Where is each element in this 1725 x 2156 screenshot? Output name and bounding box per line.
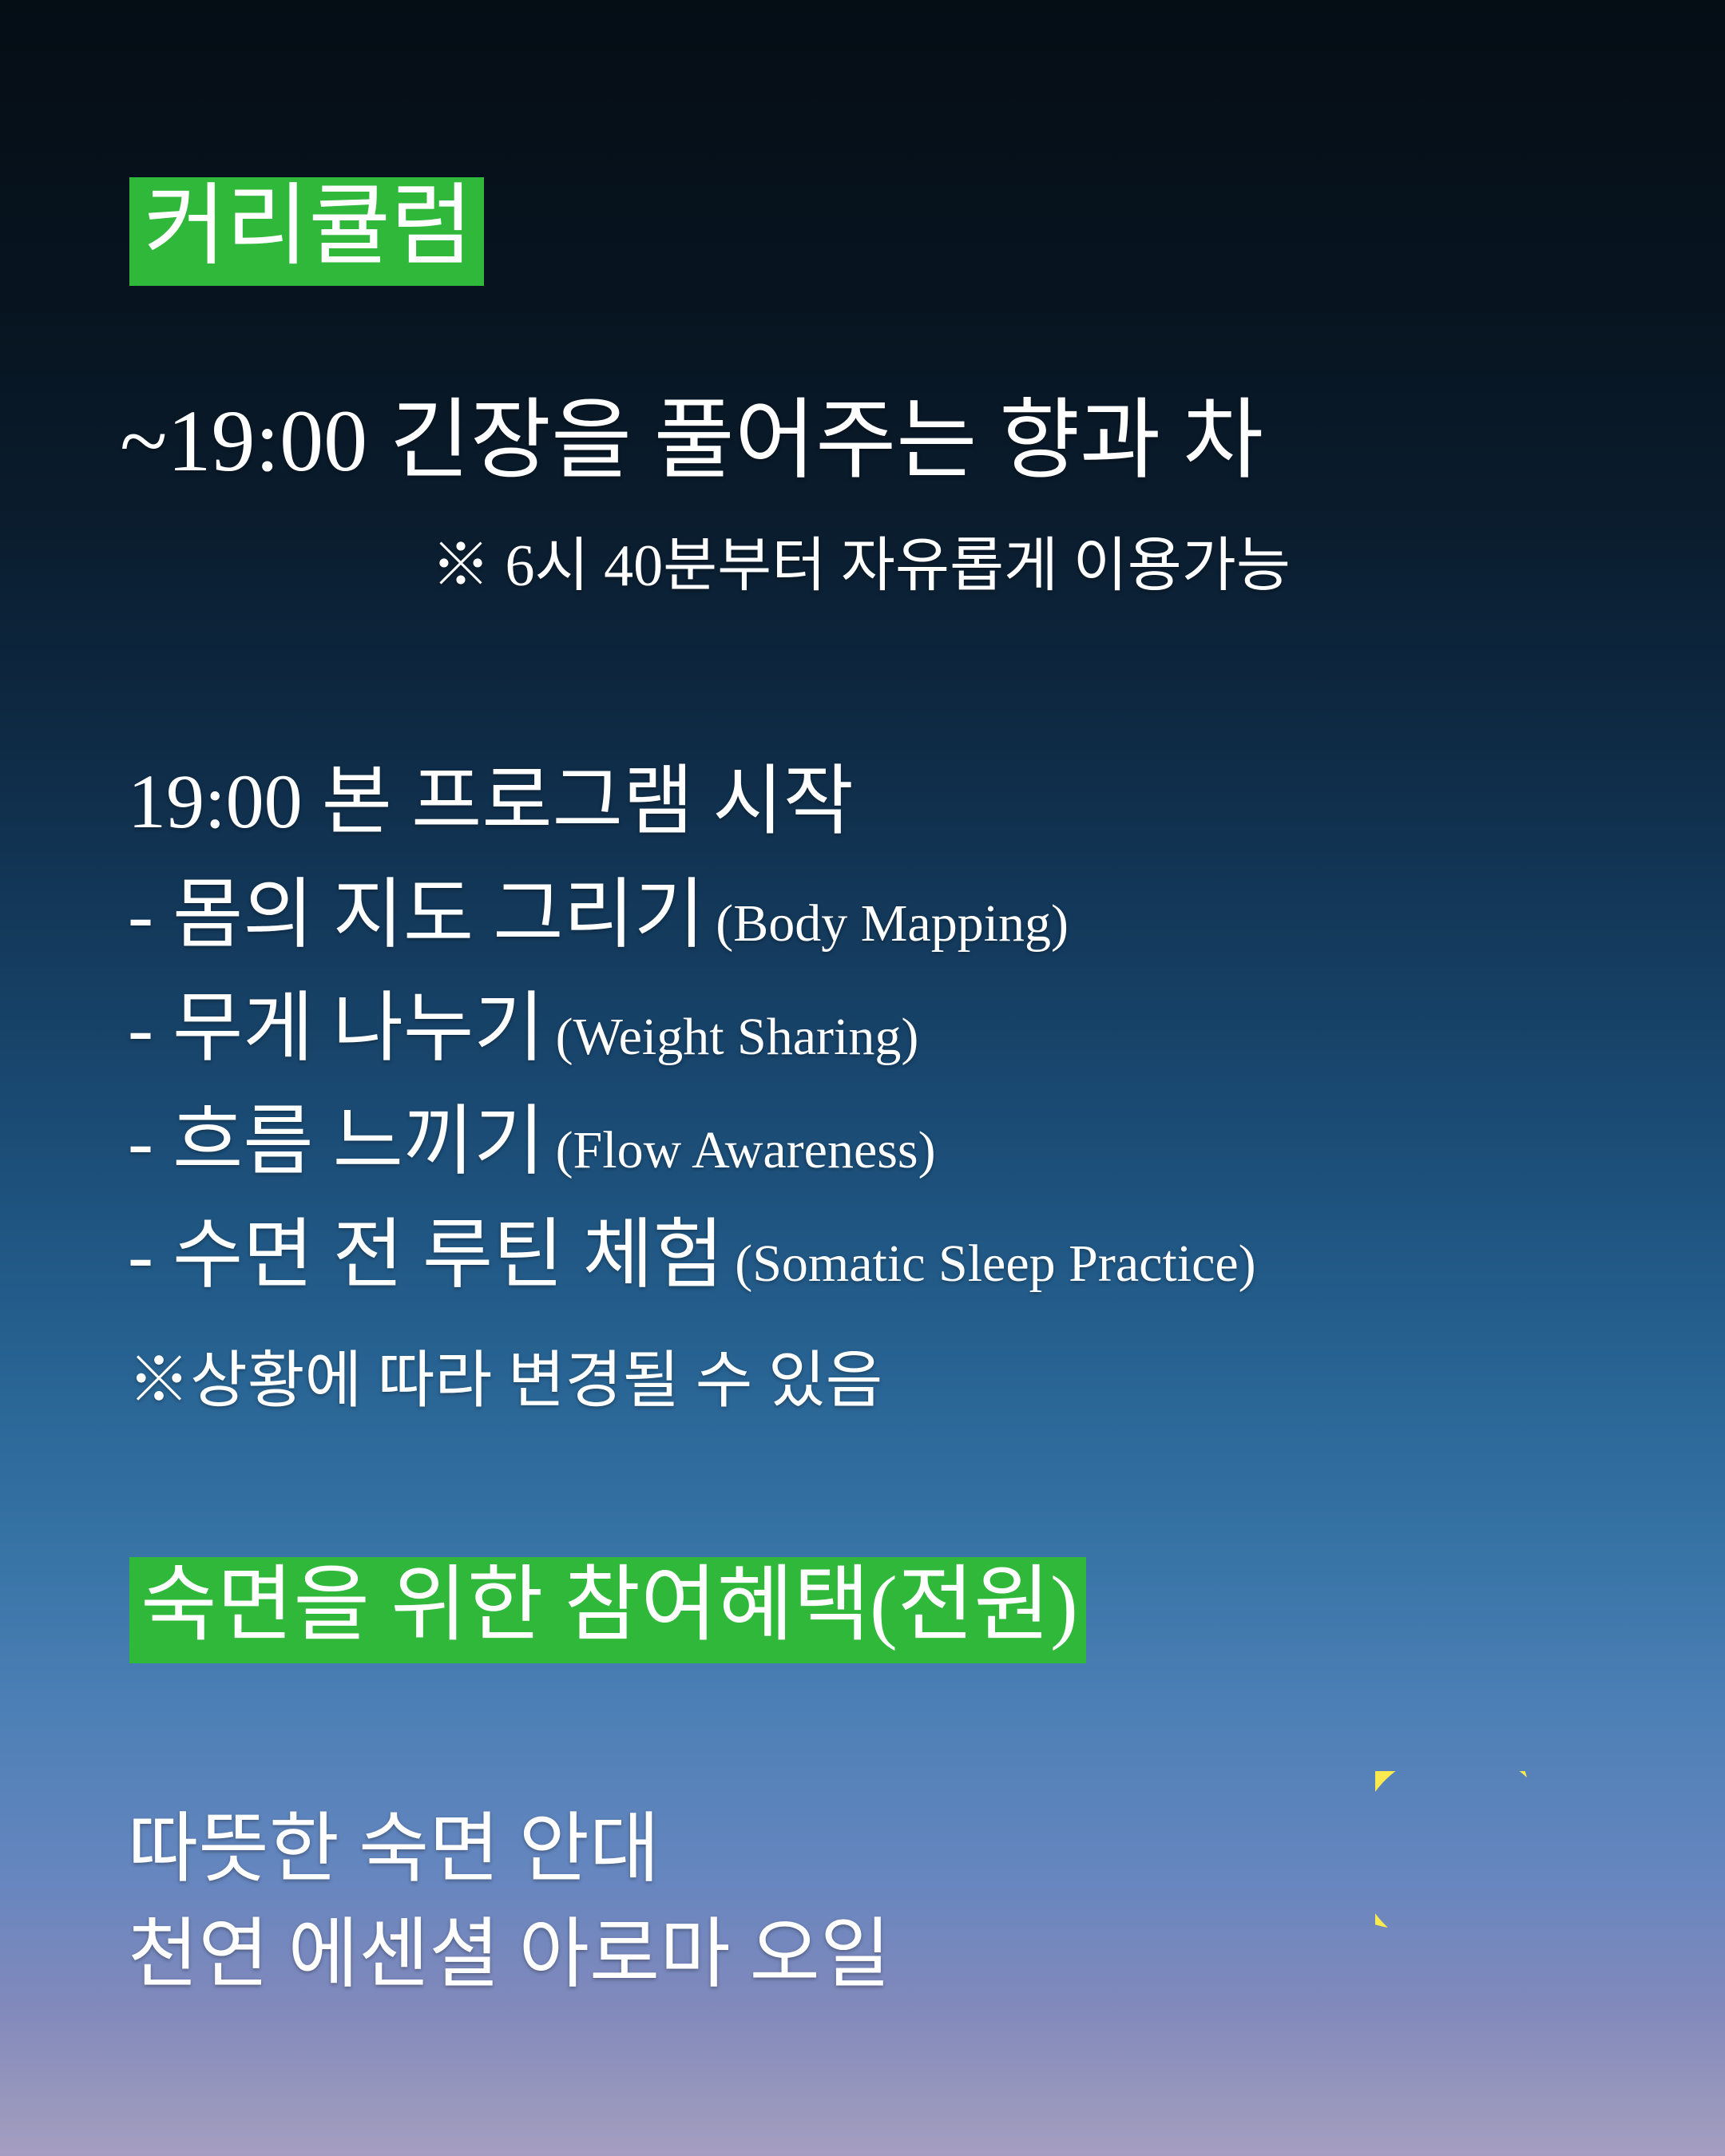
benefits-heading-label: 숙면을 위한 참여혜택(전원) bbox=[141, 1564, 1078, 1647]
crescent-moon-icon bbox=[1375, 1771, 1615, 2027]
program-change-note: ※상황에 따라 변경될 수 있음 bbox=[128, 1349, 882, 1412]
program-item-en: (Body Mapping) bbox=[704, 894, 1069, 953]
program-item-en: (Flow Awareness) bbox=[545, 1121, 936, 1179]
program-item: - 몸의 지도 그리기(Body Mapping) bbox=[128, 877, 1069, 953]
program-item-ko: 몸의 지도 그리기 bbox=[172, 872, 704, 957]
program-item-ko: 무게 나누기 bbox=[172, 985, 545, 1071]
program-item-bullet: - bbox=[128, 872, 172, 957]
benefit-item: 천연 에센셜 아로마 오일 bbox=[128, 1916, 890, 1993]
program-item-ko: 수면 전 루틴 체험 bbox=[172, 1212, 724, 1298]
program-item-bullet: - bbox=[128, 1212, 172, 1298]
benefits-heading: 숙면을 위한 참여혜택(전원) bbox=[129, 1557, 1086, 1663]
tea-time-line: ~19:00 긴장을 풀어주는 향과 차 bbox=[120, 397, 1263, 485]
program-item-en: (Weight Sharing) bbox=[545, 1008, 919, 1066]
tea-time-note: ※ 6시 40분부터 자유롭게 이용가능 bbox=[431, 537, 1291, 596]
benefit-item: 따뜻한 숙면 안대 bbox=[128, 1811, 660, 1888]
program-item: - 무게 나누기(Weight Sharing) bbox=[128, 990, 918, 1067]
program-item-bullet: - bbox=[128, 1099, 172, 1184]
program-item: - 흐름 느끼기(Flow Awareness) bbox=[128, 1104, 936, 1180]
sleep-program-poster: 커리큘럼 ~19:00 긴장을 풀어주는 향과 차 ※ 6시 40분부터 자유롭… bbox=[0, 0, 1725, 2156]
program-item-bullet: - bbox=[128, 985, 172, 1071]
curriculum-heading: 커리큘럼 bbox=[129, 177, 484, 286]
program-item-en: (Somatic Sleep Practice) bbox=[724, 1235, 1255, 1293]
program-item: - 수면 전 루틴 체험(Somatic Sleep Practice) bbox=[128, 1217, 1256, 1294]
curriculum-heading-label: 커리큘럼 bbox=[144, 182, 473, 271]
program-item-ko: 흐름 느끼기 bbox=[172, 1099, 545, 1184]
program-start-line: 19:00 본 프로그램 시작 bbox=[128, 763, 854, 840]
